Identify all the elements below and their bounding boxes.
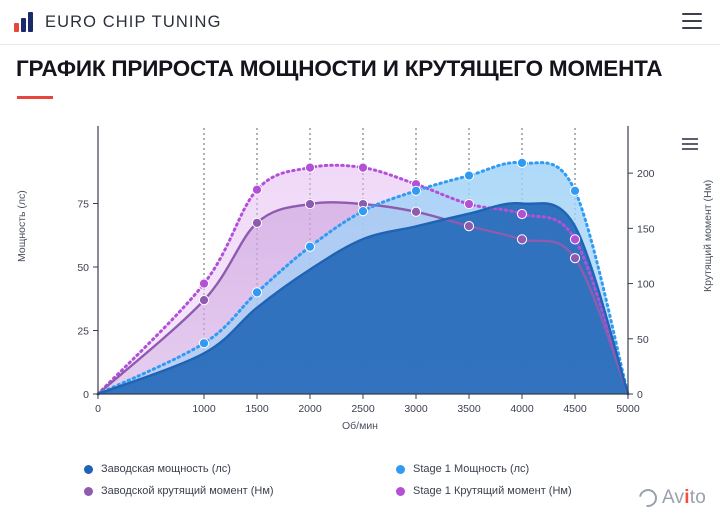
title-underline (17, 96, 53, 99)
bottom-strip (0, 511, 720, 517)
data-point (252, 218, 261, 227)
data-point (411, 186, 420, 195)
x-tick-label: 1000 (192, 403, 216, 412)
brand-name: EURO CHIP TUNING (45, 13, 222, 32)
x-axis-label: Об/мин (0, 420, 720, 432)
y-axis-right-label: Крутящий момент (Нм) (702, 180, 714, 292)
x-tick-label: 3000 (404, 403, 428, 412)
x-tick-label: 3500 (457, 403, 481, 412)
data-point (199, 339, 208, 348)
y-tick-right-label: 200 (637, 168, 655, 180)
data-point (358, 163, 367, 172)
chart-container: Мощность (лс) Крутящий момент (Нм) Об/ми… (0, 112, 720, 462)
legend-item-factory-torque[interactable]: Заводской крутящий момент (Нм) (84, 485, 274, 497)
y-tick-left-label: 50 (77, 262, 89, 274)
data-point (570, 254, 579, 263)
legend-item-factory-power[interactable]: Заводская мощность (лс) (84, 463, 231, 475)
legend-swatch-icon (84, 465, 93, 474)
data-point (305, 199, 314, 208)
data-point (570, 235, 579, 244)
data-point (252, 185, 261, 194)
hamburger-menu-icon[interactable] (682, 13, 702, 29)
avito-logo-icon (635, 485, 660, 510)
y-tick-left-label: 25 (77, 326, 89, 338)
legend-label: Заводской крутящий момент (Нм) (101, 485, 274, 497)
data-point (411, 207, 420, 216)
legend-swatch-icon (396, 465, 405, 474)
data-point (517, 209, 526, 218)
data-point (199, 296, 208, 305)
logo-bars-icon (14, 12, 36, 32)
data-point (570, 186, 579, 195)
page-title: ГРАФИК ПРИРОСТА МОЩНОСТИ И КРУТЯЩЕГО МОМ… (16, 56, 706, 82)
x-tick-label: 5000 (616, 403, 640, 412)
data-point (252, 288, 261, 297)
y-tick-right-label: 0 (637, 389, 643, 401)
y-tick-right-label: 100 (637, 279, 655, 291)
app-header: EURO CHIP TUNING (0, 0, 720, 45)
chart-legend: Заводская мощность (лс) Заводской крутящ… (0, 455, 720, 511)
y-tick-right-label: 50 (637, 334, 649, 346)
x-tick-label: 2500 (351, 403, 375, 412)
x-tick-label: 0 (95, 403, 101, 412)
data-point (199, 279, 208, 288)
legend-label: Stage 1 Крутящий момент (Нм) (413, 485, 572, 497)
y-axis-left-label: Мощность (лс) (16, 190, 28, 262)
data-point (305, 163, 314, 172)
legend-swatch-icon (396, 487, 405, 496)
x-tick-label: 4000 (510, 403, 534, 412)
data-point (464, 199, 473, 208)
watermark: Avito (639, 487, 706, 509)
data-point (358, 207, 367, 216)
data-point (305, 242, 314, 251)
legend-item-stage1-torque[interactable]: Stage 1 Крутящий момент (Нм) (396, 485, 572, 497)
y-tick-left-label: 0 (83, 389, 89, 401)
y-tick-left-label: 75 (77, 199, 89, 211)
x-tick-label: 4500 (563, 403, 587, 412)
legend-label: Заводская мощность (лс) (101, 463, 231, 475)
legend-swatch-icon (84, 487, 93, 496)
data-point (517, 158, 526, 167)
y-tick-right-label: 150 (637, 223, 655, 235)
data-point (464, 171, 473, 180)
chart-menu-icon[interactable] (682, 138, 698, 150)
legend-item-stage1-power[interactable]: Stage 1 Мощность (лс) (396, 463, 529, 475)
data-point (517, 235, 526, 244)
chart-plot: 0100015002000250030003500400045005000025… (0, 112, 720, 412)
brand: EURO CHIP TUNING (14, 12, 222, 32)
data-point (464, 222, 473, 231)
x-tick-label: 1500 (245, 403, 269, 412)
x-tick-label: 2000 (298, 403, 322, 412)
legend-label: Stage 1 Мощность (лс) (413, 463, 529, 475)
watermark-text: Avito (662, 487, 706, 509)
